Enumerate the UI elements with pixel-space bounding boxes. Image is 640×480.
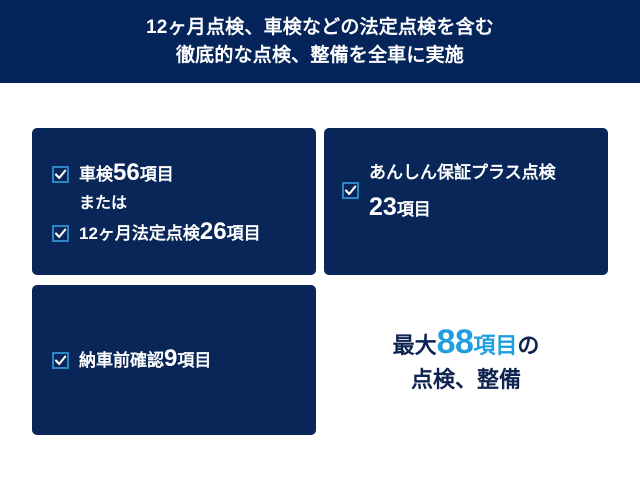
- inspection-row-shaken-text: 車検56項目: [79, 161, 174, 188]
- inspection-row-shaken: 車検56項目: [52, 161, 308, 188]
- header-line-2: 徹底的な点検、整備を全車に実施: [176, 42, 464, 70]
- predelivery-number: 9: [164, 345, 177, 372]
- card-inspection: 車検56項目 または 12ヶ月法定点検26項目: [32, 128, 316, 275]
- inspection-shaken-prefix: 車検: [79, 165, 113, 184]
- card-warranty: あんしん保証プラス点検 23項目: [324, 128, 608, 275]
- summary-line-1: 最大88項目の: [393, 325, 540, 362]
- card-predelivery-content: 納車前確認9項目: [52, 285, 211, 435]
- card-warranty-text-stack: あんしん保証プラス点検 23項目: [369, 158, 556, 222]
- warranty-number: 23: [369, 193, 397, 221]
- inspection-row-12month-text: 12ヶ月法定点検26項目: [79, 220, 261, 247]
- card-inspection-content: 車検56項目 または 12ヶ月法定点検26項目: [52, 161, 308, 250]
- header-banner: 12ヶ月点検、車検などの法定点検を含む 徹底的な点検、整備を全車に実施: [0, 0, 640, 83]
- inspection-row-or-text: または: [79, 195, 127, 212]
- predelivery-row-text: 納車前確認9項目: [79, 347, 211, 374]
- checkbox-checked-icon: [342, 182, 359, 199]
- inspection-12month-prefix: 12ヶ月法定点検: [79, 224, 200, 243]
- warranty-suffix: 項目: [397, 200, 431, 219]
- predelivery-row: 納車前確認9項目: [52, 347, 211, 374]
- card-predelivery: 納車前確認9項目: [32, 285, 316, 435]
- warranty-title: あんしん保証プラス点検: [369, 158, 556, 183]
- inspection-row-12month: 12ヶ月法定点検26項目: [52, 220, 308, 247]
- inspection-shaken-suffix: 項目: [140, 165, 174, 184]
- inspection-12month-suffix: 項目: [227, 224, 261, 243]
- summary-total: 最大88項目の 点検、整備: [324, 285, 608, 435]
- checkbox-checked-icon: [52, 166, 69, 183]
- summary-line-2: 点検、整備: [411, 364, 521, 396]
- summary-unit: 項目: [473, 333, 517, 358]
- header-line-1: 12ヶ月点検、車検などの法定点検を含む: [146, 14, 494, 42]
- checkbox-checked-icon: [52, 225, 69, 242]
- card-warranty-content: あんしん保証プラス点検 23項目: [342, 158, 602, 222]
- summary-particle: の: [517, 333, 539, 358]
- predelivery-prefix: 納車前確認: [79, 351, 164, 370]
- warranty-count: 23項目: [369, 193, 556, 222]
- predelivery-suffix: 項目: [177, 351, 211, 370]
- checkbox-checked-icon: [52, 352, 69, 369]
- summary-number: 88: [437, 323, 474, 361]
- inspection-row-or: または: [52, 191, 308, 217]
- inspection-12month-number: 26: [200, 218, 227, 245]
- summary-prefix: 最大: [393, 333, 437, 358]
- inspection-shaken-number: 56: [113, 159, 140, 186]
